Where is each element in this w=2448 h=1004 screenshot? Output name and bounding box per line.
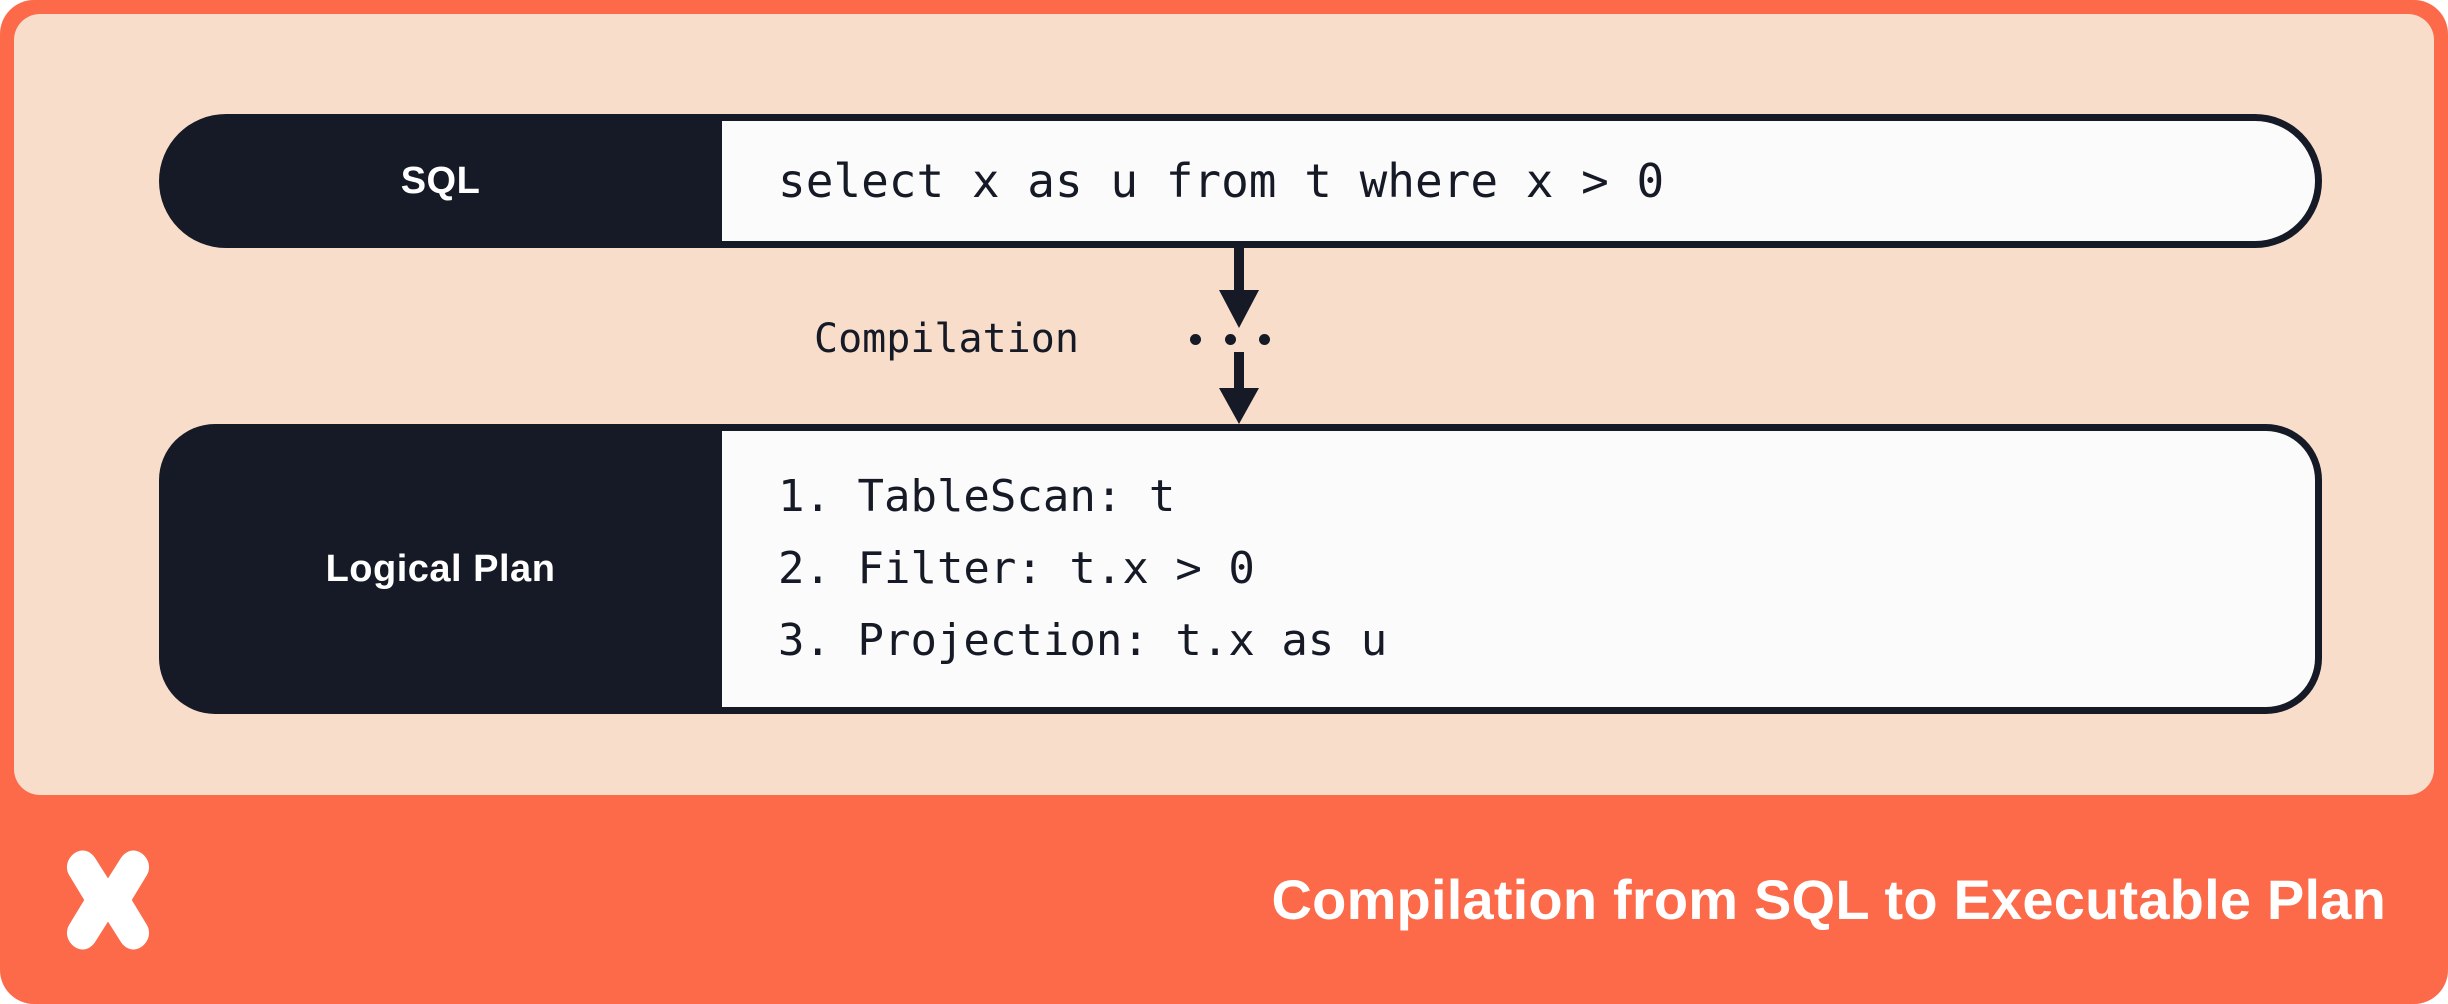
down-arrow-top-shaft [1234,248,1244,292]
figure-root: SQL select x as u from t where x > 0 Com… [0,0,2448,1004]
logical-plan-step-2: 2. Filter: t.x > 0 [778,535,2315,603]
x-star-logo-icon [54,846,162,954]
sql-row-label: SQL [401,160,481,203]
sql-row: SQL select x as u from t where x > 0 [159,114,2322,248]
compilation-label: Compilation [814,316,1079,362]
footer-title: Compilation from SQL to Executable Plan [1272,867,2386,932]
logical-plan-step-1: 1. TableScan: t [778,463,2315,531]
logical-plan-step-3: 3. Projection: t.x as u [778,607,2315,675]
logical-plan-row-label: Logical Plan [326,548,556,591]
diagram-card: SQL select x as u from t where x > 0 Com… [14,14,2434,795]
logical-plan-row: Logical Plan 1. TableScan: t 2. Filter: … [159,424,2322,714]
down-arrow-bottom-head [1219,388,1259,424]
logical-plan-panel: 1. TableScan: t 2. Filter: t.x > 0 3. Pr… [720,424,2322,714]
sql-row-pill: SQL [159,114,722,248]
down-arrow-top-head [1219,290,1259,328]
compilation-arrows [1169,248,1309,424]
footer-bar: Compilation from SQL to Executable Plan [0,795,2448,1004]
sql-code-panel: select x as u from t where x > 0 [720,114,2322,248]
logical-plan-row-pill: Logical Plan [159,424,722,714]
down-arrow-bottom-shaft [1234,352,1244,394]
sql-code-line: select x as u from t where x > 0 [778,154,2315,208]
